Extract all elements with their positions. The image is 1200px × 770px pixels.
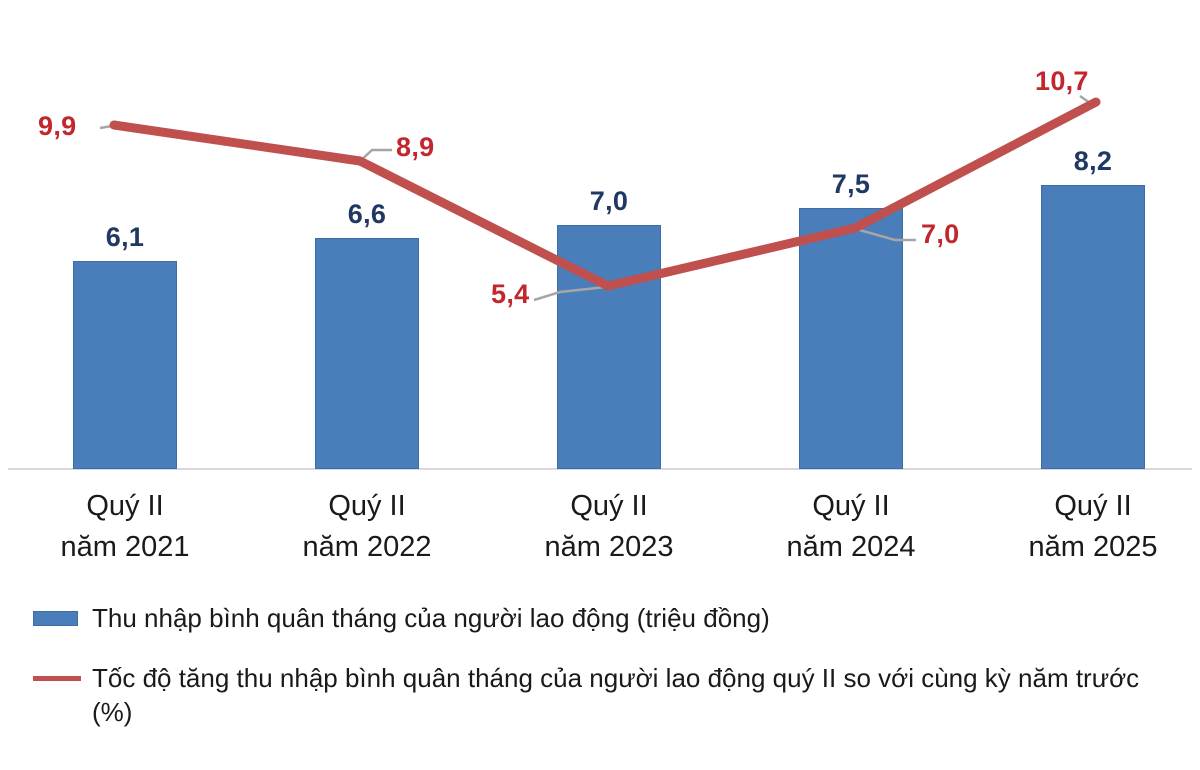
leader-line-2023 — [534, 287, 606, 300]
x-label-2023: Quý II năm 2023 — [509, 486, 709, 568]
line-value-label-2023: 5,4 — [491, 279, 529, 310]
legend-swatch-growth-wrap — [0, 658, 92, 698]
chart-container: 6,1 6,6 7,0 7,5 8,2 9,9 8,9 5,4 7,0 10,7… — [0, 0, 1200, 770]
x-axis-labels: Quý II năm 2021 Quý II năm 2022 Quý II n… — [0, 486, 1200, 586]
x-label-2023-line2: năm 2023 — [509, 527, 709, 568]
legend-item-growth: Tốc độ tăng thu nhập bình quân tháng của… — [0, 658, 1200, 730]
line-value-label-2025: 10,7 — [1035, 66, 1089, 97]
x-label-2021-line2: năm 2021 — [25, 527, 225, 568]
legend-swatch-income-wrap — [0, 598, 92, 638]
leader-line-2024 — [856, 229, 916, 240]
x-label-2024-line2: năm 2024 — [751, 527, 951, 568]
line-swatch-icon — [33, 676, 81, 681]
x-label-2023-line1: Quý II — [509, 486, 709, 527]
chart-legend: Thu nhập bình quân tháng của người lao đ… — [0, 598, 1200, 744]
x-label-2021-line1: Quý II — [25, 486, 225, 527]
x-label-2021: Quý II năm 2021 — [25, 486, 225, 568]
plot-area: 6,1 6,6 7,0 7,5 8,2 9,9 8,9 5,4 7,0 10,7 — [0, 0, 1200, 470]
legend-label-income: Thu nhập bình quân tháng của người lao đ… — [92, 598, 770, 635]
legend-item-income: Thu nhập bình quân tháng của người lao đ… — [0, 598, 1200, 638]
legend-label-growth: Tốc độ tăng thu nhập bình quân tháng của… — [92, 658, 1177, 730]
bar-swatch-icon — [33, 611, 78, 626]
x-label-2025-line1: Quý II — [993, 486, 1193, 527]
x-label-2022: Quý II năm 2022 — [267, 486, 467, 568]
x-label-2025: Quý II năm 2025 — [993, 486, 1193, 568]
line-series-layer — [0, 0, 1200, 470]
growth-rate-line — [114, 102, 1096, 286]
line-value-label-2024: 7,0 — [921, 219, 959, 250]
x-label-2022-line1: Quý II — [267, 486, 467, 527]
x-label-2024: Quý II năm 2024 — [751, 486, 951, 568]
x-label-2024-line1: Quý II — [751, 486, 951, 527]
x-label-2025-line2: năm 2025 — [993, 527, 1193, 568]
x-label-2022-line2: năm 2022 — [267, 527, 467, 568]
line-value-label-2021: 9,9 — [38, 111, 76, 142]
line-value-label-2022: 8,9 — [396, 132, 434, 163]
